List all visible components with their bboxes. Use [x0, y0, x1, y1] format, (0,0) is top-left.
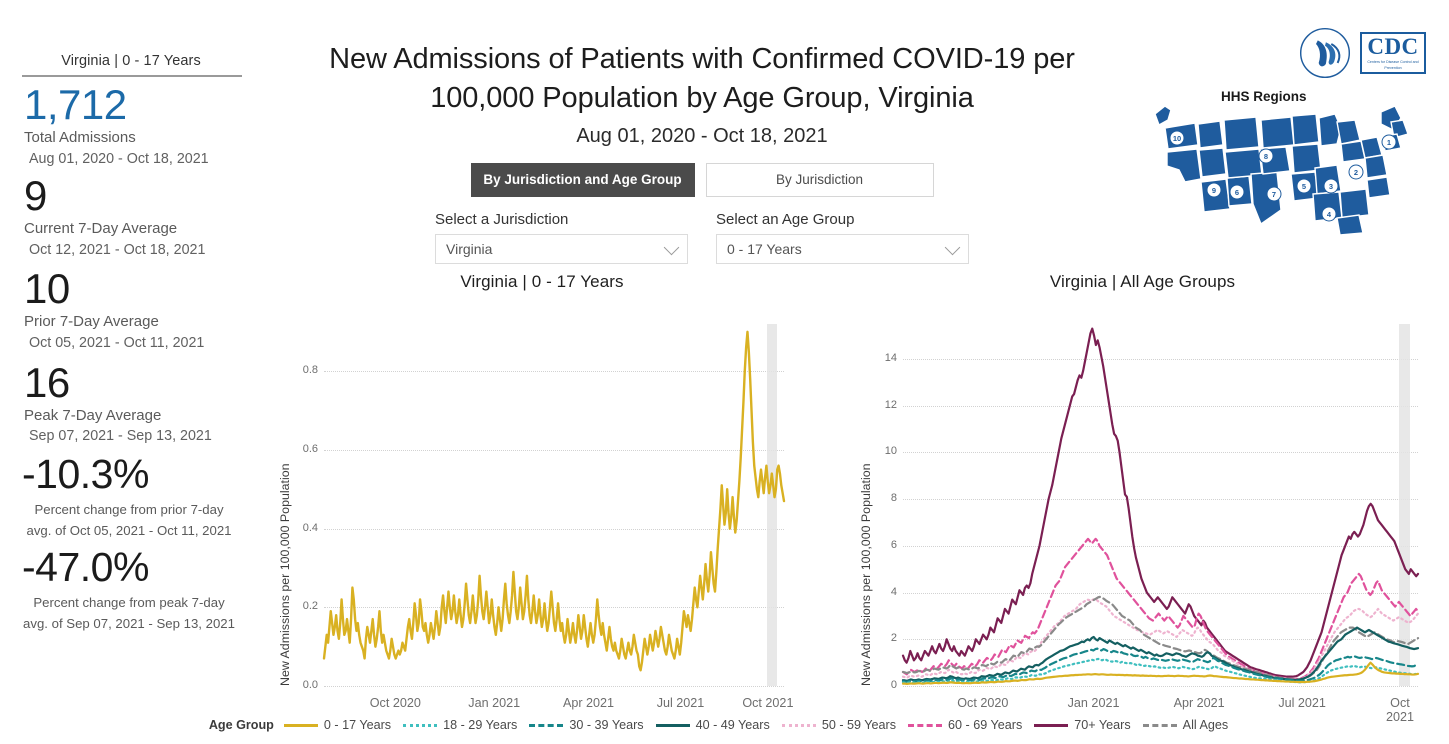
chart-plot [262, 306, 822, 726]
age-group-select[interactable]: 0 - 17 Years [716, 234, 969, 264]
map-region-1: 1 [1387, 138, 1391, 147]
chart-panel-all-ages: Virginia | All Age Groups New Admissions… [845, 272, 1440, 726]
x-axis-tick: Jan 2021 [1068, 696, 1120, 710]
legend-label: 70+ Years [1074, 718, 1130, 732]
age-group-select-label: Select an Age Group [716, 211, 969, 228]
legend-label: 30 - 39 Years [569, 718, 643, 732]
legend-swatch [284, 724, 318, 727]
kpi-prior-7day-average: 10 Prior 7-Day Average Oct 05, 2021 - Oc… [14, 265, 248, 354]
x-axis-tick: Jul 2021 [657, 696, 705, 710]
legend-swatch [908, 724, 942, 727]
kpi-peak-7day-average: 16 Peak 7-Day Average Sep 07, 2021 - Sep… [14, 359, 248, 448]
x-axis-tick: Apr 2021 [563, 696, 614, 710]
kpi-percent-change-peak: -47.0% Percent change from peak 7-day av… [14, 545, 248, 633]
legend-swatch [529, 724, 563, 727]
map-region-9: 9 [1212, 186, 1216, 195]
legend-item[interactable]: 0 - 17 Years [284, 718, 391, 732]
legend-swatch [1034, 724, 1068, 727]
legend-item[interactable]: 18 - 29 Years [403, 718, 517, 732]
map-region-7: 7 [1272, 190, 1276, 199]
page-subtitle: Aug 01, 2020 - Oct 18, 2021 [262, 125, 1142, 148]
legend-swatch [656, 724, 690, 727]
kpi-label: Peak 7-Day Average [24, 405, 248, 427]
chevron-down-icon [664, 240, 680, 256]
kpi-note-line2: avg. of Sep 07, 2021 - Sep 13, 2021 [14, 612, 248, 633]
legend-item[interactable]: 70+ Years [1034, 718, 1130, 732]
legend-item[interactable]: 40 - 49 Years [656, 718, 770, 732]
hhs-seal-icon [1298, 26, 1352, 80]
map-region-5: 5 [1302, 182, 1306, 191]
legend-swatch [1143, 724, 1177, 727]
kpi-value: -47.0% [14, 545, 248, 591]
chart-title-left: Virginia | 0 - 17 Years [262, 272, 822, 292]
branding-area: CDC Centers for Disease Control and Prev… [1139, 16, 1439, 256]
x-axis-tick: Oct 2021 [742, 696, 793, 710]
filter-selectors: Select a Jurisdiction Virginia Select an… [262, 211, 1142, 264]
page-title-line2: 100,000 Population by Age Group, Virgini… [282, 79, 1122, 118]
kpi-total-admissions: 1,712 Total Admissions Aug 01, 2020 - Oc… [14, 81, 248, 170]
jurisdiction-select-value: Virginia [446, 241, 492, 257]
chart-legend: Age Group 0 - 17 Years18 - 29 Years30 - … [0, 718, 1449, 732]
kpi-note-line1: Percent change from prior 7-day [14, 498, 248, 519]
kpi-daterange: Oct 05, 2021 - Oct 11, 2021 [24, 333, 248, 354]
dashboard-header: New Admissions of Patients with Confirme… [262, 0, 1142, 264]
age-group-select-value: 0 - 17 Years [727, 241, 802, 257]
legend-item[interactable]: All Ages [1143, 718, 1229, 732]
legend-label: 50 - 59 Years [822, 718, 896, 732]
map-region-10: 10 [1173, 134, 1181, 143]
kpi-value: 16 [24, 359, 248, 406]
sidebar-header: Virginia | 0 - 17 Years [14, 0, 248, 69]
kpi-value: 10 [24, 265, 248, 312]
map-region-6: 6 [1235, 188, 1239, 197]
chart-panel-age-group: Virginia | 0 - 17 Years New Admissions p… [262, 272, 822, 726]
map-region-8: 8 [1264, 152, 1268, 161]
legend-label: All Ages [1183, 718, 1229, 732]
chevron-down-icon [945, 240, 961, 256]
legend-swatch [403, 724, 437, 727]
chart-title-right: Virginia | All Age Groups [845, 272, 1440, 292]
legend-title: Age Group [209, 718, 274, 732]
jurisdiction-select-label: Select a Jurisdiction [435, 211, 688, 228]
page-title-line1: New Admissions of Patients with Confirme… [282, 40, 1122, 79]
kpi-daterange: Oct 12, 2021 - Oct 18, 2021 [24, 240, 248, 261]
kpi-note-line1: Percent change from peak 7-day [14, 591, 248, 612]
x-axis-tick: Jan 2021 [468, 696, 520, 710]
legend-item[interactable]: 60 - 69 Years [908, 718, 1022, 732]
series-line [903, 628, 1418, 681]
map-region-2: 2 [1354, 168, 1358, 177]
legend-label: 18 - 29 Years [443, 718, 517, 732]
jurisdiction-selector-group: Select a Jurisdiction Virginia [435, 211, 688, 264]
view-tabs: By Jurisdiction and Age Group By Jurisdi… [262, 163, 1142, 197]
legend-label: 60 - 69 Years [948, 718, 1022, 732]
hhs-regions-map: 10 9 6 7 8 5 4 3 2 1 [1151, 94, 1421, 242]
x-axis-tick: Oct 2020 [957, 696, 1008, 710]
chart-area-left: New Admissions per 100,000 Population0.0… [262, 306, 822, 726]
kpi-sidebar: Virginia | 0 - 17 Years 1,712 Total Admi… [0, 0, 262, 744]
legend-label: 0 - 17 Years [324, 718, 391, 732]
kpi-note-line2: avg. of Oct 05, 2021 - Oct 11, 2021 [14, 519, 248, 540]
x-axis-tick: Apr 2021 [1174, 696, 1225, 710]
kpi-value: 9 [24, 172, 248, 219]
kpi-percent-change-prior: -10.3% Percent change from prior 7-day a… [14, 452, 248, 540]
cdc-logo: CDC Centers for Disease Control and Prev… [1360, 32, 1426, 74]
legend-label: 40 - 49 Years [696, 718, 770, 732]
kpi-value: -10.3% [14, 452, 248, 498]
map-region-3: 3 [1329, 182, 1333, 191]
legend-item[interactable]: 50 - 59 Years [782, 718, 896, 732]
kpi-daterange: Aug 01, 2020 - Oct 18, 2021 [24, 149, 248, 170]
cdc-logo-text: CDC [1367, 35, 1418, 58]
agency-logos: CDC Centers for Disease Control and Prev… [1298, 26, 1426, 80]
x-axis-tick: Oct 2020 [370, 696, 421, 710]
legend-item[interactable]: 30 - 39 Years [529, 718, 643, 732]
kpi-label: Prior 7-Day Average [24, 311, 248, 333]
cdc-logo-subtext: Centers for Disease Control and Preventi… [1362, 60, 1424, 71]
tab-by-jurisdiction-and-age-group[interactable]: By Jurisdiction and Age Group [471, 163, 695, 197]
kpi-label: Total Admissions [24, 127, 248, 149]
x-axis-tick: Jul 2021 [1278, 696, 1326, 710]
kpi-value: 1,712 [24, 81, 248, 128]
legend-items: 0 - 17 Years18 - 29 Years30 - 39 Years40… [284, 718, 1240, 732]
kpi-current-7day-average: 9 Current 7-Day Average Oct 12, 2021 - O… [14, 172, 248, 261]
jurisdiction-select[interactable]: Virginia [435, 234, 688, 264]
page-title: New Admissions of Patients with Confirme… [262, 0, 1142, 119]
age-group-selector-group: Select an Age Group 0 - 17 Years [716, 211, 969, 264]
series-line [324, 332, 784, 670]
tab-by-jurisdiction[interactable]: By Jurisdiction [706, 163, 934, 197]
chart-area-right: New Admissions per 100,000 Population024… [845, 306, 1440, 726]
legend-swatch [782, 724, 816, 727]
sidebar-divider [22, 75, 242, 77]
chart-plot [845, 306, 1440, 726]
kpi-label: Current 7-Day Average [24, 218, 248, 240]
kpi-daterange: Sep 07, 2021 - Sep 13, 2021 [24, 426, 248, 447]
